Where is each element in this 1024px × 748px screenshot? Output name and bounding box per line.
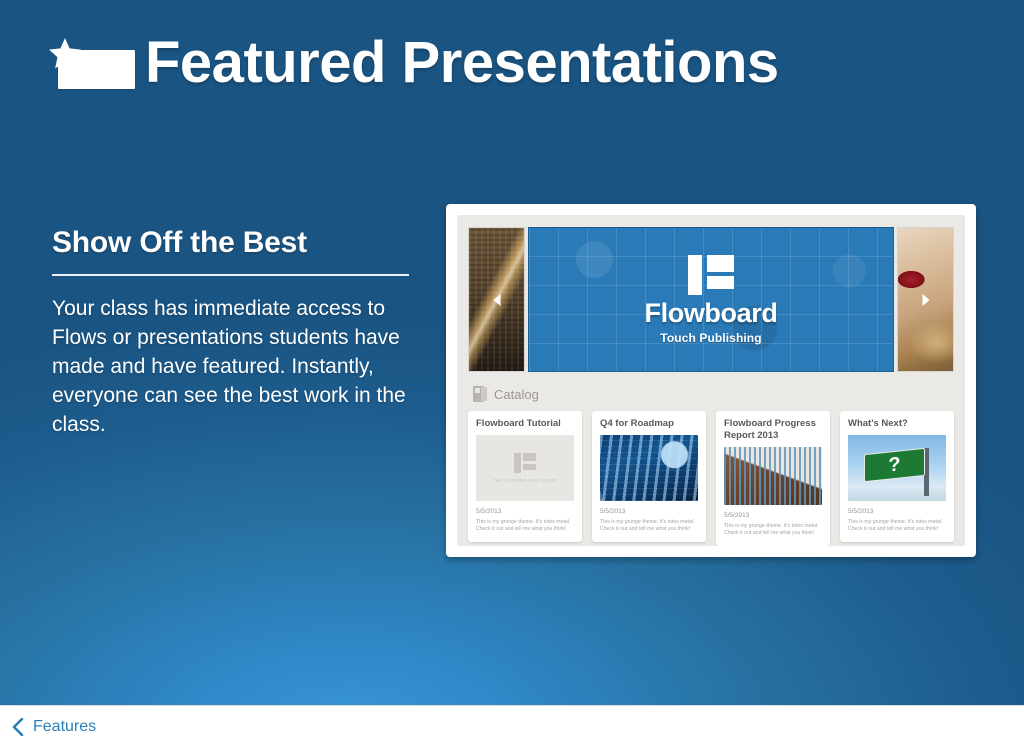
back-to-features-button[interactable]: Features <box>12 718 96 736</box>
card-title: Q4 for Roadmap <box>600 418 698 430</box>
slide-header: Featured Presentations <box>47 34 779 92</box>
star-shape <box>47 37 83 73</box>
green-question-road-sign: ? <box>848 435 946 501</box>
heading-divider <box>52 274 409 276</box>
sign-post <box>924 448 929 496</box>
catalog-card[interactable]: Q4 for Roadmap 5/5/2013 This is my grung… <box>592 411 706 542</box>
card-date: 5/5/2013 <box>476 508 574 515</box>
catalog-card-grid: Flowboard Tutorial THE FLOWBOARD GUIDE 5… <box>468 411 954 546</box>
feature-body: Your class has immediate access to Flows… <box>52 294 424 439</box>
app-screen: Flowboard Touch Publishing Catalog Flowb… <box>457 215 965 546</box>
card-title: Flowboard Tutorial <box>476 418 574 430</box>
flowboard-logo-icon <box>688 255 734 295</box>
catalog-card[interactable]: What's Next? ? 5/5/2013 This is my grung… <box>840 411 954 542</box>
card-description: This is my grunge theme. It's totes meta… <box>848 519 946 533</box>
question-mark-glyph: ? <box>888 454 900 475</box>
thumb-caption: THE FLOWBOARD GUIDE <box>493 478 558 483</box>
page-title: Featured Presentations <box>145 34 779 92</box>
hero-slide-flowboard[interactable]: Flowboard Touch Publishing <box>528 227 894 372</box>
card-description: This is my grunge theme. It's totes meta… <box>600 519 698 533</box>
feature-heading: Show Off the Best <box>52 226 424 260</box>
card-date: 5/5/2013 <box>724 512 822 519</box>
book-icon <box>473 386 487 402</box>
app-screenshot-panel: Flowboard Touch Publishing Catalog Flowb… <box>446 204 976 557</box>
flowboard-guide-cover: THE FLOWBOARD GUIDE <box>476 435 574 501</box>
catalog-card[interactable]: Flowboard Tutorial THE FLOWBOARD GUIDE 5… <box>468 411 582 542</box>
chevron-right-icon[interactable] <box>922 294 929 306</box>
blue-charts-photo <box>600 435 698 501</box>
card-title: Flowboard Progress Report 2013 <box>724 418 822 442</box>
hero-carousel: Flowboard Touch Publishing <box>468 227 954 372</box>
catalog-label: Catalog <box>494 387 539 402</box>
featured-card-star-icon <box>47 37 139 89</box>
card-title: What's Next? <box>848 418 946 430</box>
chevron-left-icon <box>12 718 24 736</box>
brand-name: Flowboard <box>645 300 778 327</box>
chevron-left-icon[interactable] <box>493 294 500 306</box>
brand-tagline: Touch Publishing <box>645 331 778 345</box>
carousel-prev-thumb[interactable] <box>468 227 525 372</box>
back-label: Features <box>33 718 96 736</box>
catalog-section-header: Catalog <box>473 384 965 404</box>
card-date: 5/5/2013 <box>600 508 698 515</box>
carousel-next-thumb[interactable] <box>897 227 954 372</box>
report-desk-photo <box>724 447 822 505</box>
feature-copy: Show Off the Best Your class has immedia… <box>52 226 424 439</box>
footer-bar: Features <box>0 705 1024 748</box>
catalog-card[interactable]: Flowboard Progress Report 2013 5/5/2013 … <box>716 411 830 546</box>
card-date: 5/5/2013 <box>848 508 946 515</box>
card-description: This is my grunge theme. It's totes meta… <box>724 523 822 537</box>
card-description: This is my grunge theme. It's totes meta… <box>476 519 574 533</box>
sign-board: ? <box>864 448 925 482</box>
